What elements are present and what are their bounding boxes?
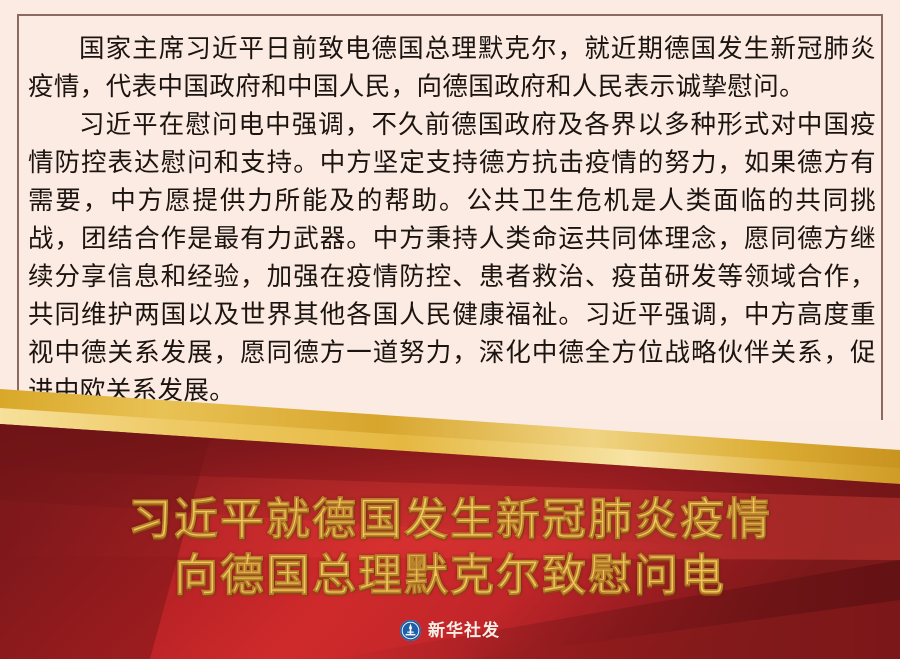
article-paragraph-2: 习近平在慰问电中强调，不久前德国政府及各界以多种形式对中国疫情防控表达慰问和支持… (28, 106, 876, 410)
news-poster: 国家主席习近平日前致电德国总理默克尔，就近期德国发生新冠肺炎疫情，代表中国政府和… (0, 0, 900, 659)
article-paragraph-1: 国家主席习近平日前致电德国总理默克尔，就近期德国发生新冠肺炎疫情，代表中国政府和… (28, 30, 876, 106)
credit-agency-label: 新华社发 (428, 620, 500, 641)
credit-line: 新华社发 (0, 620, 900, 641)
headline-line-1: 习近平就德国发生新冠肺炎疫情 (0, 492, 900, 548)
headline-line-2: 向德国总理默克尔致慰问电 (0, 548, 900, 604)
xinhua-logo-icon (400, 620, 421, 641)
headline: 习近平就德国发生新冠肺炎疫情 向德国总理默克尔致慰问电 (0, 492, 900, 604)
article-body: 国家主席习近平日前致电德国总理默克尔，就近期德国发生新冠肺炎疫情，代表中国政府和… (28, 30, 876, 410)
